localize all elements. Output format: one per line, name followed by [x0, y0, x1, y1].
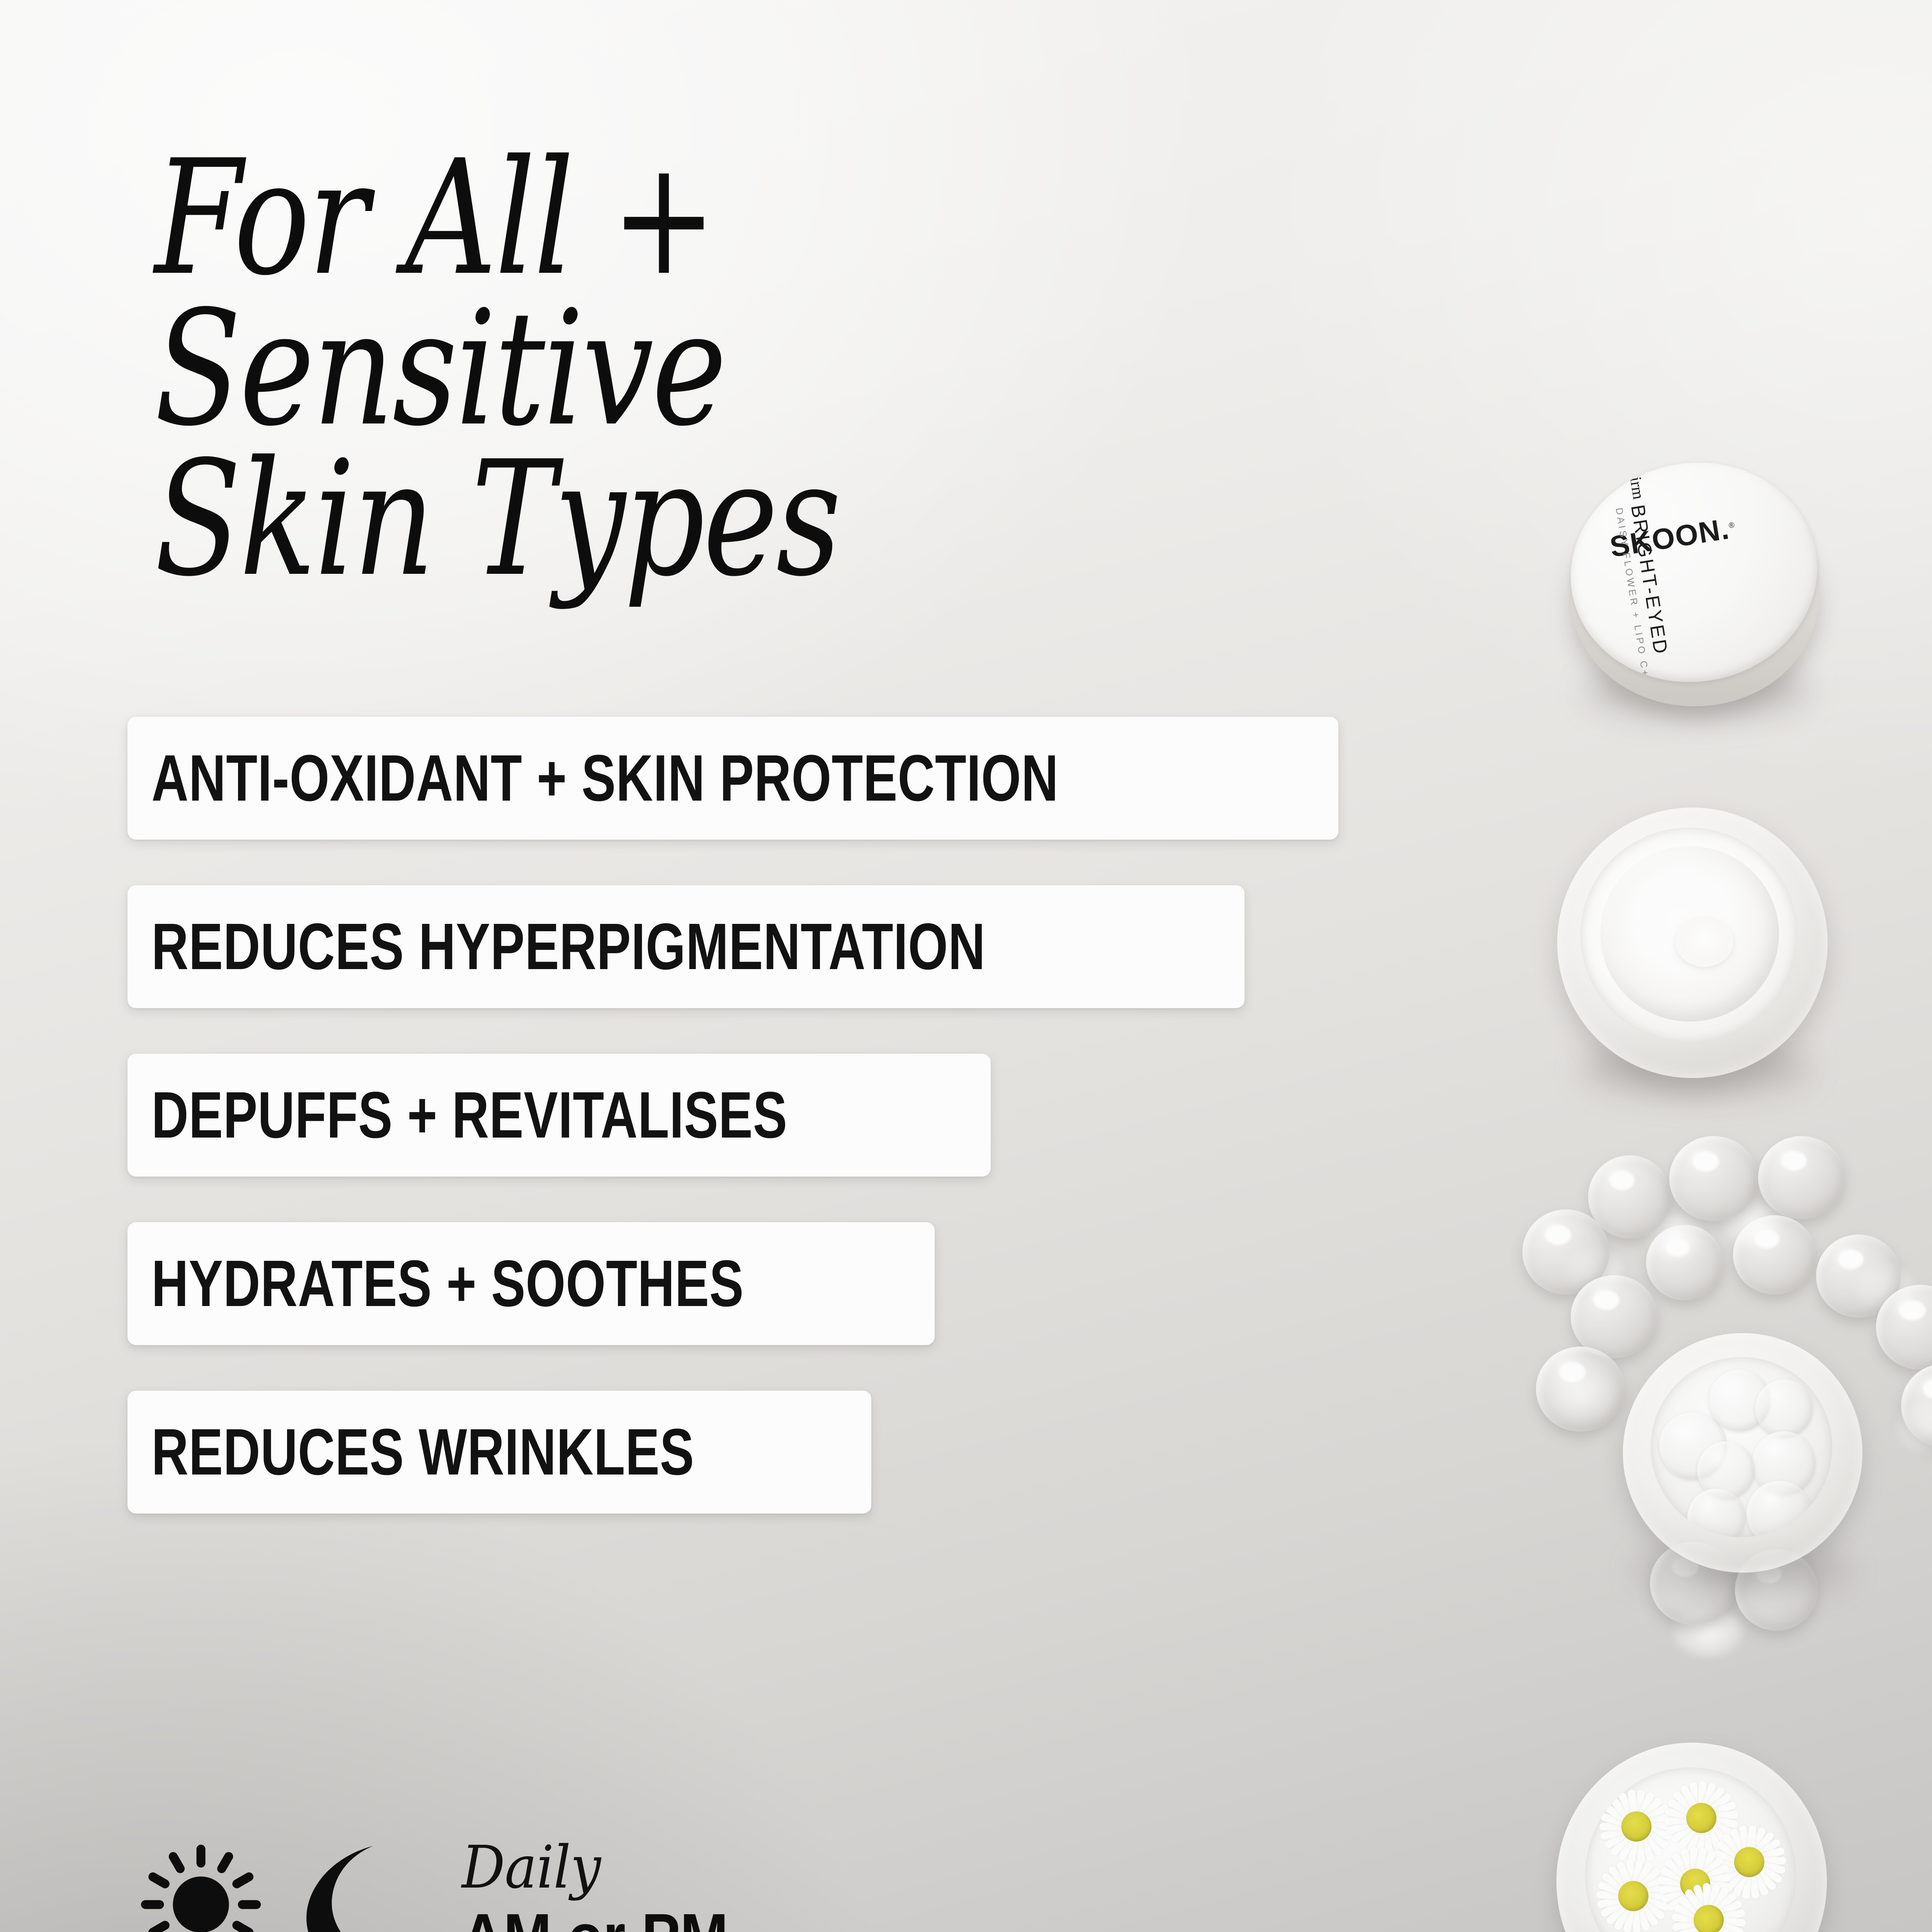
gel-sphere: [1747, 1481, 1812, 1537]
glass-bead: [1536, 1347, 1625, 1432]
benefit-label: REDUCES WRINKLES: [151, 1419, 694, 1485]
product-name-line2: Eye Cream: [1594, 445, 1629, 503]
usage-instructions: Daily AM or PM: [137, 1837, 765, 1932]
daisy-flower-jar: [1556, 1743, 1827, 1932]
gel-sphere: [1755, 1379, 1813, 1437]
benefit-label: REDUCES HYPERPIGMENTATION: [151, 914, 985, 980]
glass-bead: [1669, 1136, 1758, 1221]
moon-icon: [293, 1841, 405, 1932]
cream-swirl: [1675, 917, 1733, 967]
usage-text-block: Daily AM or PM: [462, 1837, 765, 1932]
glass-beads-cluster: [1507, 1132, 1932, 1673]
benefit-chip: HYDRATES + SOOTHES: [128, 1222, 935, 1345]
benefit-chip: REDUCES WRINKLES: [128, 1391, 871, 1514]
jar-label-rotated-text: BRIGHT-EYED DAISY FLOWER + LIPO C+K1 Bri…: [1643, 565, 1679, 697]
benefit-chip: ANTI-OXIDANT + SKIN PROTECTION: [128, 717, 1338, 840]
glass-bead: [1758, 1136, 1845, 1219]
product-photo-column: SKOON.® BRIGHT-EYED DAISY FLOWER + LIPO …: [1376, 0, 1932, 1932]
benefit-chip: REDUCES HYPERPIGMENTATION: [128, 885, 1245, 1008]
cream-surface: [1600, 846, 1779, 1022]
sun-icon: [137, 1841, 265, 1932]
benefit-chip: DEPUFFS + REVITALISES: [128, 1054, 991, 1177]
gel-jar-with-spheres: [1623, 1333, 1862, 1573]
marketing-graphic-canvas: For All + Sensitive Skin Types ANTI-OXID…: [0, 0, 1932, 1932]
benefit-label: ANTI-OXIDANT + SKIN PROTECTION: [151, 745, 1059, 811]
usage-frequency: Daily: [462, 1837, 740, 1897]
benefit-label: DEPUFFS + REVITALISES: [151, 1082, 787, 1148]
glass-bead: [1646, 1225, 1723, 1300]
page-title: For All + Sensitive Skin Types: [155, 143, 1144, 595]
label-col-name: Brighten + Firm Eye Cream: [1594, 445, 1648, 503]
gel-jar-contents: [1651, 1357, 1832, 1537]
glass-bead: [1733, 1215, 1816, 1294]
product-jar-closed: SKOON.® BRIGHT-EYED DAISY FLOWER + LIPO …: [1568, 460, 1823, 707]
usage-time-of-day: AM or PM: [462, 1903, 728, 1932]
benefits-list: ANTI-OXIDANT + SKIN PROTECTION REDUCES H…: [128, 717, 1338, 1559]
benefit-label: HYDRATES + SOOTHES: [151, 1251, 744, 1316]
open-cream-jar: [1557, 808, 1828, 1078]
